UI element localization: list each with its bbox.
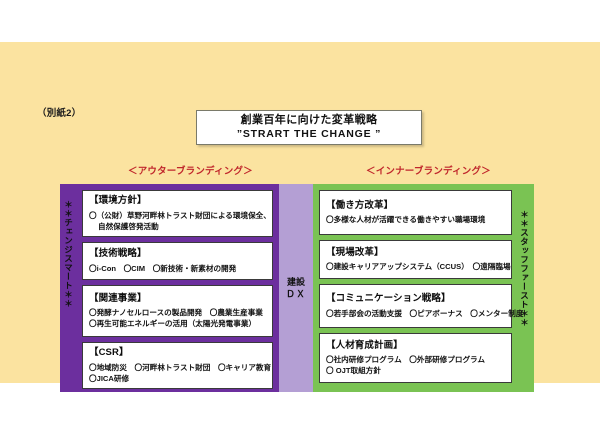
card-title: 【現場改革】: [326, 247, 506, 260]
strategy-title-english: ”STRART THE CHANGE ”: [237, 128, 381, 141]
outer-branding-slogan: ＊＊チェンジスマート＊＊: [64, 200, 73, 308]
card-body: 〇i-Con 〇CIM 〇新技術・新素材の開発: [89, 264, 267, 274]
card-technology-strategy: 【技術戦略】 〇i-Con 〇CIM 〇新技術・新素材の開発: [82, 242, 273, 280]
dx-label-line1: 建設: [287, 276, 305, 288]
card-title: 【環境方針】: [89, 195, 267, 208]
inner-branding-header: ＜インナーブランディング＞: [366, 163, 491, 177]
card-line: 〇若手部会の活動支援 〇ピアボーナス 〇メンター制度: [326, 309, 506, 319]
card-line: 〇多様な人材が活躍できる働きやすい職場環境: [326, 215, 506, 225]
card-site-reform: 【現場改革】 〇建設キャリアアップシステム（CCUS） 〇遠隔臨場: [319, 240, 512, 279]
card-line: 〇建設キャリアアップシステム（CCUS） 〇遠隔臨場: [326, 262, 506, 272]
card-communication-strategy: 【コミュニケーション戦略】 〇若手部会の活動支援 〇ピアボーナス 〇メンター制度: [319, 284, 512, 328]
slide-canvas: （別紙2） 創業百年に向けた変革戦略 ”STRART THE CHANGE ” …: [0, 42, 600, 383]
card-body: 〇若手部会の活動支援 〇ピアボーナス 〇メンター制度: [326, 309, 506, 319]
card-body: 〇社内研修プログラム 〇外部研修プログラム 〇 OJT取組方針: [326, 355, 506, 376]
card-title: 【働き方改革】: [326, 200, 506, 213]
card-line: 〇発酵ナノセルロースの製品開発 〇農業生産事業: [89, 308, 267, 318]
card-environmental-policy: 【環境方針】 〇（公財）草野河畔林トラスト財団による環境保全、 自然保護啓発活動: [82, 190, 273, 237]
card-body: 〇多様な人材が活躍できる働きやすい職場環境: [326, 215, 506, 225]
dx-label-line2: ＤＸ: [286, 288, 306, 300]
card-work-style-reform: 【働き方改革】 〇多様な人材が活躍できる働きやすい職場環境: [319, 190, 512, 235]
card-line: 〇再生可能エネルギーの活用（太陽光発電事業）: [89, 319, 267, 329]
card-title: 【人材育成計画】: [326, 340, 506, 353]
card-line: 〇（公財）草野河畔林トラスト財団による環境保全、: [89, 211, 267, 221]
card-body: 〇（公財）草野河畔林トラスト財団による環境保全、 自然保護啓発活動: [89, 211, 267, 232]
card-line: 〇i-Con 〇CIM 〇新技術・新素材の開発: [89, 264, 267, 274]
card-body: 〇建設キャリアアップシステム（CCUS） 〇遠隔臨場: [326, 262, 506, 272]
card-body: 〇発酵ナノセルロースの製品開発 〇農業生産事業 〇再生可能エネルギーの活用（太陽…: [89, 308, 267, 329]
construction-dx-strip: 建設 ＤＸ: [279, 184, 313, 392]
card-line: 〇 OJT取組方針: [326, 366, 506, 376]
inner-branding-slogan: ＊＊スタッフファースト＊＊: [520, 210, 529, 327]
card-line: 自然保護啓発活動: [89, 222, 267, 232]
strategy-title-box: 創業百年に向けた変革戦略 ”STRART THE CHANGE ”: [196, 110, 422, 145]
inner-branding-panel: 【働き方改革】 〇多様な人材が活躍できる働きやすい職場環境 【現場改革】 〇建設…: [313, 184, 534, 392]
slide-page: （別紙2） 創業百年に向けた変革戦略 ”STRART THE CHANGE ” …: [0, 0, 600, 424]
card-title: 【関連事業】: [89, 293, 267, 306]
card-line: 〇地域防災 〇河畔林トラスト財団 〇キャリア教育: [89, 363, 267, 373]
card-body: 〇地域防災 〇河畔林トラスト財団 〇キャリア教育 〇JICA研修: [89, 363, 267, 384]
card-title: 【CSR】: [89, 347, 267, 360]
card-line: 〇JICA研修: [89, 374, 267, 384]
card-csr: 【CSR】 〇地域防災 〇河畔林トラスト財団 〇キャリア教育 〇JICA研修: [82, 342, 273, 389]
card-related-business: 【関連事業】 〇発酵ナノセルロースの製品開発 〇農業生産事業 〇再生可能エネルギ…: [82, 285, 273, 337]
card-title: 【技術戦略】: [89, 248, 267, 261]
strategy-title-japanese: 創業百年に向けた変革戦略: [241, 114, 378, 128]
card-human-resource-plan: 【人材育成計画】 〇社内研修プログラム 〇外部研修プログラム 〇 OJT取組方針: [319, 333, 512, 383]
card-title: 【コミュニケーション戦略】: [326, 293, 506, 306]
sheet-number-note: （別紙2）: [37, 105, 81, 119]
card-line: 〇社内研修プログラム 〇外部研修プログラム: [326, 355, 506, 365]
outer-branding-panel: 【環境方針】 〇（公財）草野河畔林トラスト財団による環境保全、 自然保護啓発活動…: [60, 184, 279, 392]
outer-branding-header: ＜アウターブランディング＞: [128, 163, 253, 177]
